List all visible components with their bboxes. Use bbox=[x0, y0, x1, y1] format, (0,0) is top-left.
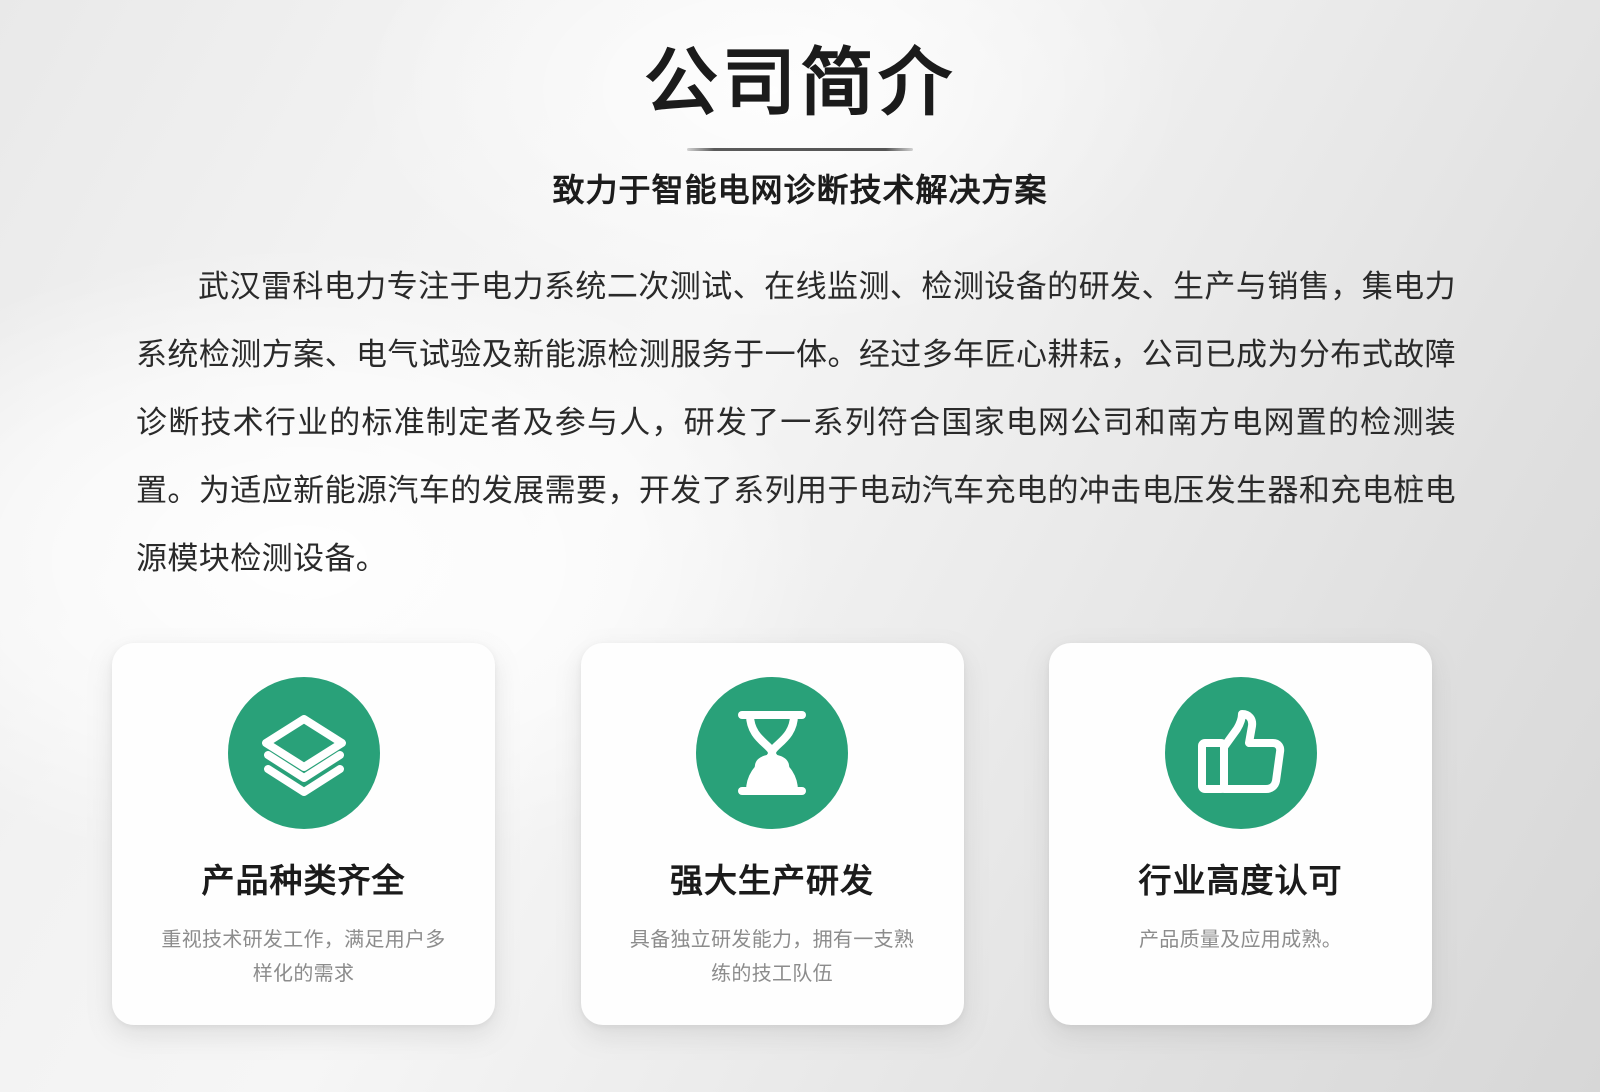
feature-card-recognition[interactable]: 行业高度认可 产品质量及应用成熟。 bbox=[1049, 643, 1432, 1025]
feature-card-list: 产品种类齐全 重视技术研发工作，满足用户多样化的需求 强大生产研发 具备独立研发… bbox=[112, 643, 1432, 1025]
layers-icon bbox=[228, 677, 380, 829]
intro-paragraph: 武汉雷科电力专注于电力系统二次测试、在线监测、检测设备的研发、生产与销售，集电力… bbox=[136, 253, 1456, 593]
feature-card-title: 产品种类齐全 bbox=[202, 829, 406, 901]
feature-card-desc: 重视技术研发工作，满足用户多样化的需求 bbox=[154, 901, 454, 991]
feature-card-desc: 具备独立研发能力，拥有一支熟练的技工队伍 bbox=[622, 901, 922, 991]
intro-section: 武汉雷科电力专注于电力系统二次测试、在线监测、检测设备的研发、生产与销售，集电力… bbox=[136, 253, 1456, 593]
hourglass-icon bbox=[696, 677, 848, 829]
feature-card-rnd[interactable]: 强大生产研发 具备独立研发能力，拥有一支熟练的技工队伍 bbox=[581, 643, 964, 1025]
page-title: 公司简介 bbox=[0, 0, 1600, 120]
page-subtitle: 致力于智能电网诊断技术解决方案 bbox=[0, 151, 1600, 209]
feature-card-products[interactable]: 产品种类齐全 重视技术研发工作，满足用户多样化的需求 bbox=[112, 643, 495, 1025]
feature-card-title: 行业高度认可 bbox=[1139, 829, 1343, 901]
thumbs-up-icon bbox=[1165, 677, 1317, 829]
feature-card-desc: 产品质量及应用成熟。 bbox=[1091, 901, 1391, 957]
page-header: 公司简介 致力于智能电网诊断技术解决方案 bbox=[0, 0, 1600, 209]
company-profile-page: 公司简介 致力于智能电网诊断技术解决方案 武汉雷科电力专注于电力系统二次测试、在… bbox=[0, 0, 1600, 1092]
feature-card-title: 强大生产研发 bbox=[670, 829, 874, 901]
